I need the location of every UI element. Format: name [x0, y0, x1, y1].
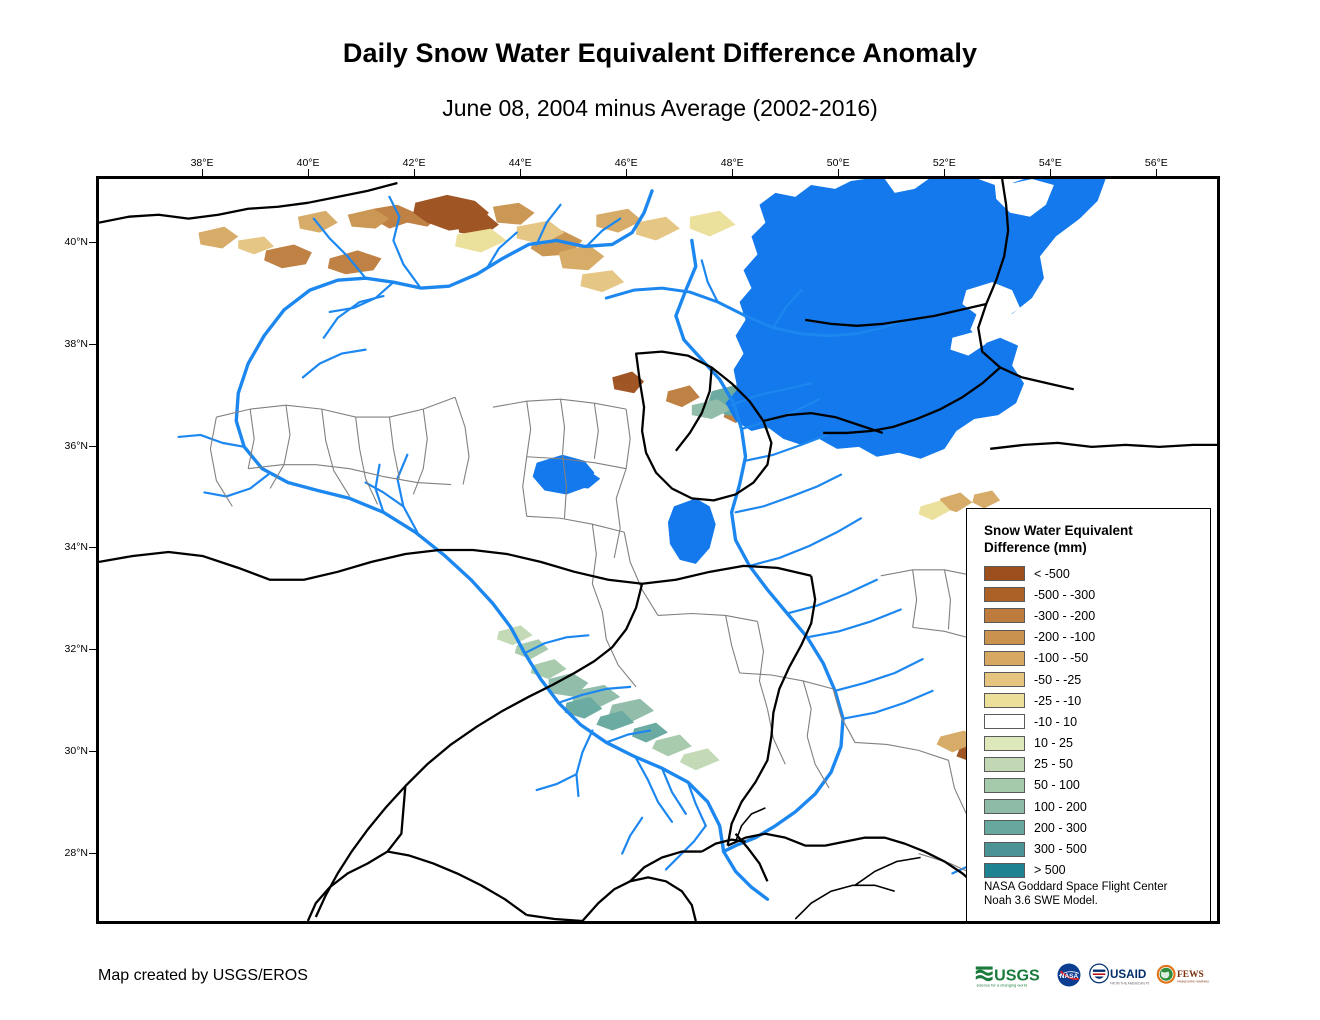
legend-swatch	[984, 566, 1025, 581]
legend-label: -10 - 10	[1034, 715, 1077, 729]
svg-text:science for a changing world: science for a changing world	[977, 983, 1027, 988]
legend-label: -500 - -300	[1034, 588, 1095, 602]
legend-swatch	[984, 651, 1025, 666]
legend-swatch	[984, 842, 1025, 857]
legend-label: > 500	[1034, 863, 1066, 877]
lat-tick-mark	[89, 344, 97, 345]
legend-row: -10 - 10	[984, 711, 1210, 732]
legend-title-line1: Snow Water Equivalent	[984, 523, 1184, 540]
legend-label: 25 - 50	[1034, 757, 1073, 771]
legend-source-line1: NASA Goddard Space Flight Center	[984, 880, 1167, 894]
svg-text:NASA: NASA	[1059, 973, 1078, 980]
legend-swatch	[984, 820, 1025, 835]
legend-row: < -500	[984, 563, 1210, 584]
legend-row: -300 - -200	[984, 605, 1210, 626]
lon-tick-mark	[1156, 169, 1157, 177]
legend-panel: Snow Water Equivalent Difference (mm) < …	[966, 508, 1211, 922]
lon-tick-label: 56°E	[1145, 157, 1168, 169]
legend-swatch	[984, 757, 1025, 772]
lon-tick-label: 48°E	[721, 157, 744, 169]
legend-label: 10 - 25	[1034, 736, 1073, 750]
legend-items: < -500-500 - -300-300 - -200-200 - -100-…	[984, 563, 1210, 881]
lat-tick-mark	[89, 446, 97, 447]
legend-row: 10 - 25	[984, 733, 1210, 754]
legend-row: -500 - -300	[984, 584, 1210, 605]
legend-row: -100 - -50	[984, 648, 1210, 669]
legend-row: 200 - 300	[984, 817, 1210, 838]
svg-text:FAMINE EARLY WARNING SYSTEMS N: FAMINE EARLY WARNING SYSTEMS NETWORK	[1177, 979, 1210, 983]
lon-tick-mark	[626, 169, 627, 177]
legend-row: -200 - -100	[984, 627, 1210, 648]
map-credit: Map created by USGS/EROS	[98, 967, 308, 985]
lat-tick-mark	[89, 242, 97, 243]
legend-label: -300 - -200	[1034, 609, 1095, 623]
lat-tick-label: 34°N	[50, 541, 88, 553]
lat-tick-label: 38°N	[50, 338, 88, 350]
legend-row: 25 - 50	[984, 754, 1210, 775]
svg-text:FEWS: FEWS	[1177, 970, 1204, 980]
svg-text:FROM THE AMERICAN PEOPLE: FROM THE AMERICAN PEOPLE	[1110, 981, 1150, 985]
legend-title-line2: Difference (mm)	[984, 540, 1184, 557]
lon-tick-label: 52°E	[933, 157, 956, 169]
lat-tick-label: 40°N	[50, 236, 88, 248]
lon-tick-mark	[1050, 169, 1051, 177]
legend-row: > 500	[984, 860, 1210, 881]
legend-swatch	[984, 587, 1025, 602]
lat-tick-mark	[89, 853, 97, 854]
legend-swatch	[984, 778, 1025, 793]
legend-row: 50 - 100	[984, 775, 1210, 796]
lon-tick-mark	[308, 169, 309, 177]
lon-tick-mark	[944, 169, 945, 177]
legend-swatch	[984, 736, 1025, 751]
svg-text:USGS: USGS	[994, 966, 1040, 984]
lat-tick-label: 28°N	[50, 847, 88, 859]
usaid-logo[interactable]: USAID FROM THE AMERICAN PEOPLE	[1089, 959, 1150, 991]
legend-label: -200 - -100	[1034, 630, 1095, 644]
lon-tick-mark	[838, 169, 839, 177]
legend-row: 300 - 500	[984, 838, 1210, 859]
lon-tick-label: 38°E	[191, 157, 214, 169]
lon-tick-label: 50°E	[827, 157, 850, 169]
legend-label: 50 - 100	[1034, 778, 1080, 792]
legend-label: -100 - -50	[1034, 651, 1088, 665]
legend-row: -25 - -10	[984, 690, 1210, 711]
svg-text:USAID: USAID	[1110, 968, 1146, 981]
lon-tick-label: 40°E	[297, 157, 320, 169]
fewsnet-logo[interactable]: FEWS FAMINE EARLY WARNING SYSTEMS NETWOR…	[1156, 959, 1210, 991]
legend-label: 200 - 300	[1034, 821, 1087, 835]
legend-swatch	[984, 799, 1025, 814]
page-subtitle: June 08, 2004 minus Average (2002-2016)	[0, 95, 1320, 122]
page-title: Daily Snow Water Equivalent Difference A…	[0, 38, 1320, 69]
lon-tick-label: 42°E	[403, 157, 426, 169]
lat-tick-mark	[89, 649, 97, 650]
legend-swatch	[984, 863, 1025, 878]
lat-tick-label: 32°N	[50, 643, 88, 655]
legend-swatch	[984, 608, 1025, 623]
usgs-logo[interactable]: USGS science for a changing world	[975, 959, 1049, 991]
lon-tick-mark	[202, 169, 203, 177]
legend-label: -25 - -10	[1034, 694, 1081, 708]
legend-row: 100 - 200	[984, 796, 1210, 817]
lon-tick-mark	[520, 169, 521, 177]
legend-swatch	[984, 714, 1025, 729]
legend-swatch	[984, 630, 1025, 645]
lat-tick-label: 36°N	[50, 440, 88, 452]
lat-tick-mark	[89, 547, 97, 548]
nasa-logo[interactable]: NASA	[1056, 959, 1082, 991]
legend-swatch	[984, 693, 1025, 708]
legend-label: < -500	[1034, 567, 1070, 581]
legend-label: 100 - 200	[1034, 800, 1087, 814]
legend-swatch	[984, 672, 1025, 687]
legend-label: -50 - -25	[1034, 673, 1081, 687]
legend-title: Snow Water Equivalent Difference (mm)	[984, 523, 1184, 556]
lon-tick-label: 54°E	[1039, 157, 1062, 169]
lon-tick-label: 46°E	[615, 157, 638, 169]
lat-tick-label: 30°N	[50, 745, 88, 757]
lon-tick-label: 44°E	[509, 157, 532, 169]
lon-tick-mark	[732, 169, 733, 177]
legend-row: -50 - -25	[984, 669, 1210, 690]
legend-label: 300 - 500	[1034, 842, 1087, 856]
legend-source: NASA Goddard Space Flight Center Noah 3.…	[984, 880, 1167, 908]
lat-tick-mark	[89, 751, 97, 752]
lon-tick-mark	[414, 169, 415, 177]
legend-source-line2: Noah 3.6 SWE Model.	[984, 894, 1167, 908]
agency-logos: USGS science for a changing world NASA U…	[975, 955, 1210, 995]
